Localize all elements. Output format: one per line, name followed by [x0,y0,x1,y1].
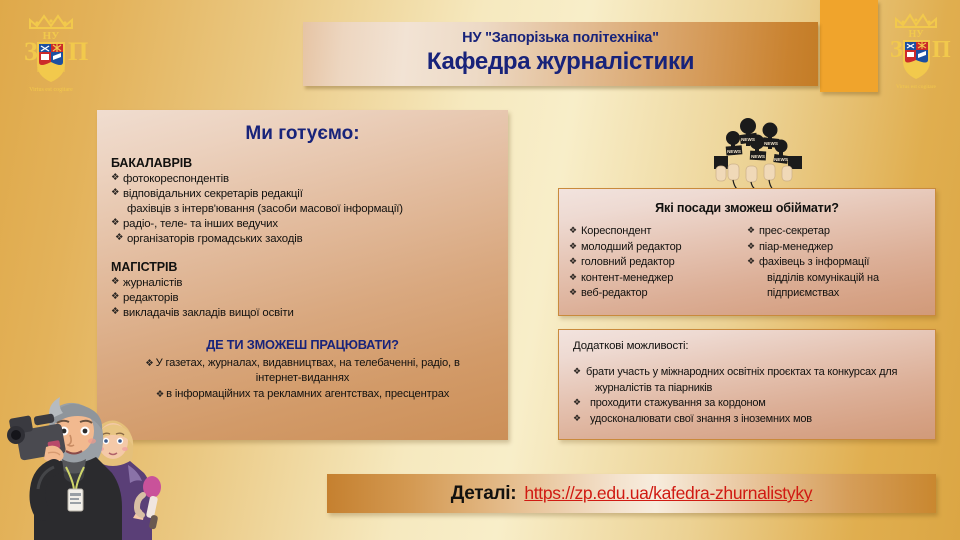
list-item: ❖брати участь у міжнародних освітніх про… [573,365,923,381]
extras-title: Додаткові можливості: [573,340,935,352]
list-item: ❖фахівець з інформації [747,255,925,271]
list-item-label: журналістів та піарників [595,382,712,394]
list-item-label: Кореспондент [581,225,651,237]
list-item-label: контент-менеджер [581,272,673,284]
positions-column-right: ❖прес-секретар ❖піар-менеджер ❖фахівець … [747,224,925,302]
positions-list-left: ❖Кореспондент ❖молодший редактор ❖головн… [569,224,747,302]
list-item-label: в інформаційних та рекламних агентствах,… [166,388,449,400]
svg-text:З: З [890,37,903,63]
diamond-bullet-icon: ❖ [111,291,119,304]
slide-canvas: НУ З П Virtus est cogitare НУ [0,0,960,540]
list-item: ❖У газетах, журналах, видавництвах, на т… [113,356,492,371]
list-item: ❖удосконалювати свої знання з іноземних … [573,412,923,428]
svg-text:NEWS: NEWS [727,149,741,154]
diamond-bullet-icon: ❖ [145,358,153,369]
list-item: ❖головний редактор [569,255,747,271]
list-item: ❖редакторів [111,291,508,306]
diamond-bullet-icon: ❖ [569,224,577,237]
list-item: ❖веб-редактор [569,286,747,302]
list-item: фахівців з інтерв'ювання (засоби масової… [111,202,508,217]
svg-text:Virtus est cogitare: Virtus est cogitare [896,84,937,90]
diamond-bullet-icon: ❖ [569,255,577,268]
positions-panel: Які посади зможеш обіймати? ❖Кореспонден… [558,188,936,316]
diamond-bullet-icon: ❖ [111,306,119,319]
list-item-label: редакторів [123,292,178,304]
positions-title: Які посади зможеш обіймати? [559,201,935,215]
list-item-label: радіо-, теле- та інших ведучих [123,218,278,230]
list-item-label: піар-менеджер [759,241,833,253]
list-item-label: підприємствах [767,287,839,299]
svg-text:З: З [24,37,38,66]
zp-polytechnic-logo-right: НУ З П Virtus est cogitare [880,6,952,94]
diamond-bullet-icon: ❖ [115,232,123,245]
list-item: ❖Кореспондент [569,224,747,240]
list-item-label: викладачів закладів вищої освіти [123,307,294,319]
list-item: ❖фотокореспондентів [111,172,508,187]
diamond-bullet-icon: ❖ [111,217,119,230]
diamond-bullet-icon: ❖ [111,187,119,200]
svg-text:NEWS: NEWS [774,157,788,162]
positions-list-right: ❖прес-секретар ❖піар-менеджер ❖фахівець … [747,224,925,302]
list-item-label: У газетах, журналах, видавництвах, на те… [156,357,460,369]
list-item-label: фахівець з інформації [759,256,869,268]
svg-text:П: П [68,37,88,66]
details-label: Деталі: [451,483,517,505]
list-item-label: веб-редактор [581,287,648,299]
extra-opportunities-panel: Додаткові можливості: ❖брати участь у мі… [558,329,936,440]
list-item: ❖контент-менеджер [569,271,747,287]
zp-polytechnic-logo-left: НУ З П Virtus est cogitare [10,6,92,98]
list-item: ❖організаторів громадських заходів [111,232,508,247]
svg-text:НУ: НУ [908,29,924,40]
diamond-bullet-icon: ❖ [569,240,577,253]
list-item-label: фотокореспондентів [123,173,229,185]
list-item: журналістів та піарників [573,381,923,397]
list-item-label: відділів комунікацій на [767,272,879,284]
list-item-label: брати участь у міжнародних освітніх проє… [586,366,897,378]
diamond-bullet-icon: ❖ [573,396,581,409]
list-item: ❖радіо-, теле- та інших ведучих [111,217,508,232]
department-title: Кафедра журналістики [427,48,694,77]
panel-title: Ми готуємо: [97,123,508,145]
list-item: ❖викладачів закладів вищої освіти [111,306,508,321]
master-heading: МАГІСТРІВ [111,260,508,274]
list-item: ❖журналістів [111,276,508,291]
list-item: ❖прес-секретар [747,224,925,240]
list-item-label: журналістів [123,277,182,289]
university-name: НУ "Запорізька політехніка" [462,31,659,47]
bachelor-list: ❖фотокореспондентів ❖відповідальних секр… [111,172,508,247]
orange-accent-block [820,0,878,92]
diamond-bullet-icon: ❖ [747,255,755,268]
diamond-bullet-icon: ❖ [573,412,581,425]
list-item: ❖молодший редактор [569,240,747,256]
diamond-bullet-icon: ❖ [111,172,119,185]
positions-column-left: ❖Кореспондент ❖молодший редактор ❖головн… [569,224,747,302]
list-item-label: організаторів громадських заходів [127,233,303,245]
list-item-label: удосконалювати свої знання з іноземних м… [590,413,812,425]
svg-text:NEWS: NEWS [741,137,755,142]
cameraman-and-reporter-illustration [0,375,175,540]
diamond-bullet-icon: ❖ [569,286,577,299]
department-url-link[interactable]: https://zp.edu.ua/kafedra-zhurnalistyky [524,483,812,504]
diamond-bullet-icon: ❖ [573,365,581,378]
where-to-work-title: ДЕ ТИ ЗМОЖЕШ ПРАЦЮВАТИ? [97,337,508,352]
list-item-label: молодший редактор [581,241,682,253]
diamond-bullet-icon: ❖ [111,276,119,289]
list-item: підприємствах [747,286,925,302]
bachelor-heading: БАКАЛАВРІВ [111,156,508,170]
diamond-bullet-icon: ❖ [569,271,577,284]
master-list: ❖журналістів ❖редакторів ❖викладачів зак… [111,276,508,321]
svg-text:NEWS: NEWS [764,141,778,146]
list-item-label: відповідальних секретарів редакції [123,188,303,200]
diamond-bullet-icon: ❖ [747,240,755,253]
svg-text:Virtus est cogitare: Virtus est cogitare [29,87,73,93]
list-item-label: проходити стажування за кордоном [590,397,766,409]
positions-columns: ❖Кореспондент ❖молодший редактор ❖головн… [559,224,935,302]
list-item-label: інтернет-виданнях [256,372,349,384]
svg-text:П: П [932,37,951,63]
list-item: ❖проходити стажування за кордоном [573,396,923,412]
title-bar: НУ "Запорізька політехніка" Кафедра журн… [303,22,818,86]
svg-text:NEWS: NEWS [751,154,765,159]
press-microphones-illustration: NEWS NEWS NEWS NEWS NEWS [700,108,810,190]
list-item-label: фахівців з інтерв'ювання (засоби масової… [127,203,403,215]
diamond-bullet-icon: ❖ [747,224,755,237]
details-link-bar[interactable]: Деталі: https://zp.edu.ua/kafedra-zhurna… [327,474,936,513]
list-item: ❖відповідальних секретарів редакції [111,187,508,202]
list-item-label: головний редактор [581,256,675,268]
svg-text:НУ: НУ [43,30,60,42]
list-item: ❖піар-менеджер [747,240,925,256]
extras-list: ❖брати участь у міжнародних освітніх про… [573,365,935,427]
list-item-label: прес-секретар [759,225,830,237]
list-item: відділів комунікацій на [747,271,925,287]
